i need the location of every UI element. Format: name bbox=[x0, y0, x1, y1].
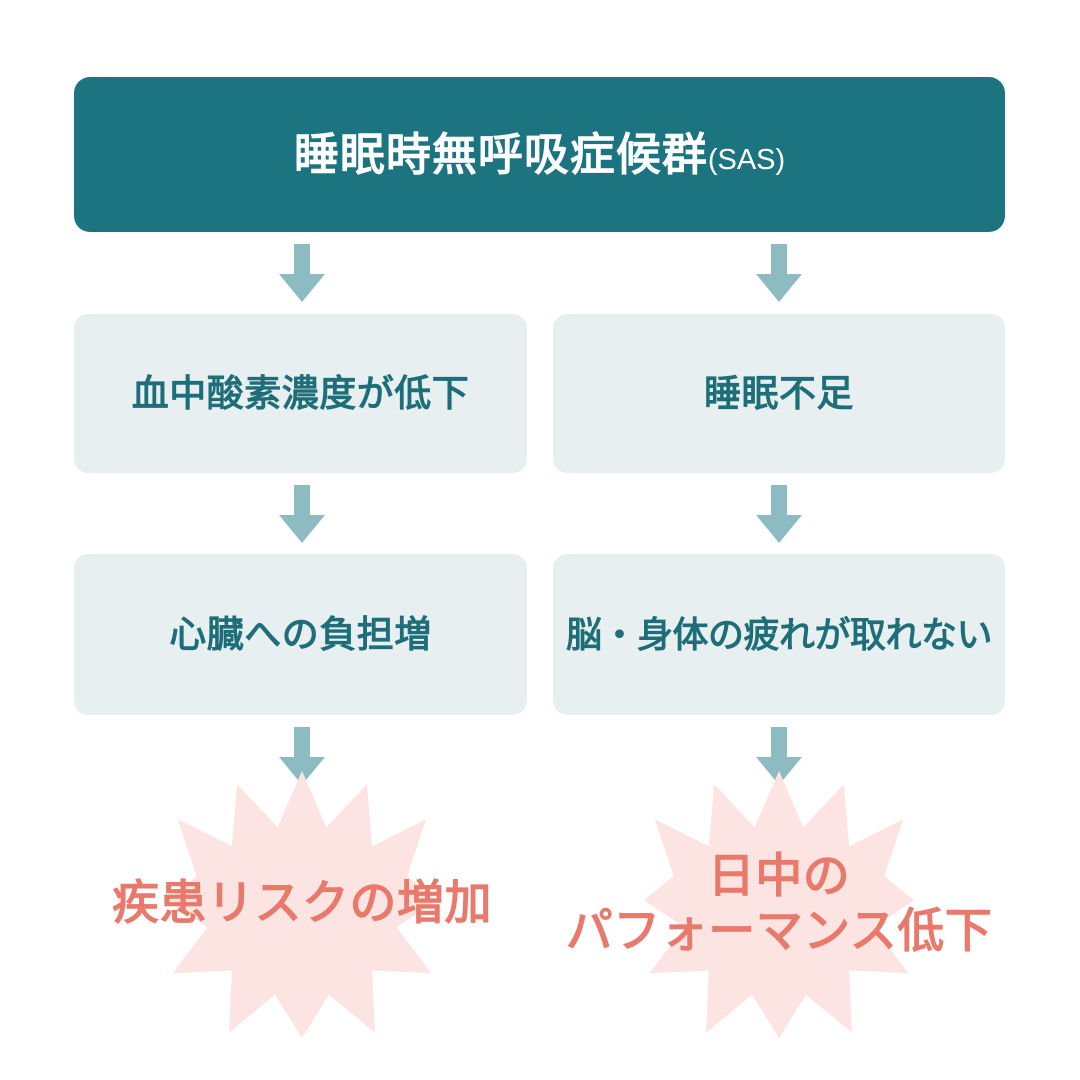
stage-box-label: 睡眠不足 bbox=[704, 375, 854, 412]
outcome-label-group: 日中の パフォーマンス低下 bbox=[549, 768, 1009, 1038]
stage-box-label: 血中酸素濃度が低下 bbox=[132, 375, 470, 412]
outcome-daytime-performance: 日中の パフォーマンス低下 bbox=[609, 768, 949, 1038]
arrow-sleep-to-fatigue bbox=[756, 485, 802, 543]
diagram-title-inner: 睡眠時無呼吸症候群 (SAS) bbox=[294, 132, 785, 177]
flowchart-canvas: 睡眠時無呼吸症候群 (SAS) 血中酸素濃度が低下 睡眠不足 心臓への負担増 脳… bbox=[0, 0, 1080, 1080]
arrow-title-to-oxygen bbox=[279, 244, 325, 302]
stage-box-heart-burden: 心臓への負担増 bbox=[74, 554, 527, 715]
outcome-label: 疾患リスクの増加 bbox=[112, 875, 492, 930]
outcome-label-group: 疾患リスクの増加 bbox=[72, 768, 532, 1038]
page-title-abbreviation: (SAS) bbox=[708, 146, 785, 177]
stage-box-label: 心臓への負担増 bbox=[169, 616, 432, 653]
diagram-title-banner: 睡眠時無呼吸症候群 (SAS) bbox=[74, 77, 1005, 232]
stage-box-label: 脳・身体の疲れが取れない bbox=[566, 617, 992, 653]
stage-box-fatigue: 脳・身体の疲れが取れない bbox=[553, 554, 1005, 715]
page-title: 睡眠時無呼吸症候群 bbox=[294, 132, 708, 177]
stage-box-sleep-deprivation: 睡眠不足 bbox=[553, 314, 1005, 473]
arrow-oxygen-to-heart bbox=[279, 485, 325, 543]
outcome-label-line-2: パフォーマンス低下 bbox=[566, 903, 993, 958]
arrow-title-to-sleep bbox=[756, 244, 802, 302]
stage-box-blood-oxygen: 血中酸素濃度が低下 bbox=[74, 314, 527, 473]
outcome-label-line-1: 日中の bbox=[708, 848, 851, 903]
outcome-risk-increase: 疾患リスクの増加 bbox=[132, 768, 472, 1038]
